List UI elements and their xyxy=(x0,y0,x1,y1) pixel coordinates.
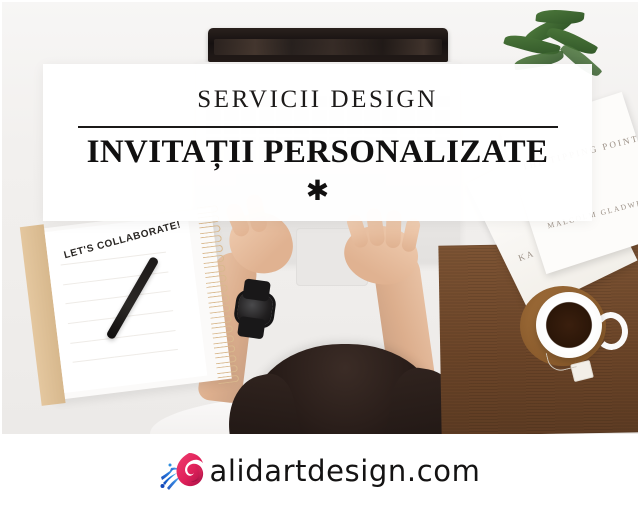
eyebrow-text: SERVICII DESIGN xyxy=(43,86,592,114)
swirl-flame-logo-icon xyxy=(160,451,206,491)
footer-bar: alidartdesign.com xyxy=(0,434,640,512)
title-panel: SERVICII DESIGN INVITAȚII PERSONALIZATE … xyxy=(43,64,592,221)
laptop-screen xyxy=(208,28,448,62)
brand-wordmark: alidartdesign.com xyxy=(210,457,481,486)
wristwatch xyxy=(236,292,274,326)
asterisk-ornament-icon: ✱ xyxy=(43,178,592,206)
poster-canvas: LET'S COLLABORATE! KA THE TIPPING POINT … xyxy=(0,0,640,512)
headline-text: INVITAȚII PERSONALIZATE xyxy=(43,134,592,171)
title-divider xyxy=(78,126,558,128)
book-title-secondary: KA xyxy=(517,248,536,263)
brand-logo-lockup[interactable]: alidartdesign.com xyxy=(160,451,481,491)
